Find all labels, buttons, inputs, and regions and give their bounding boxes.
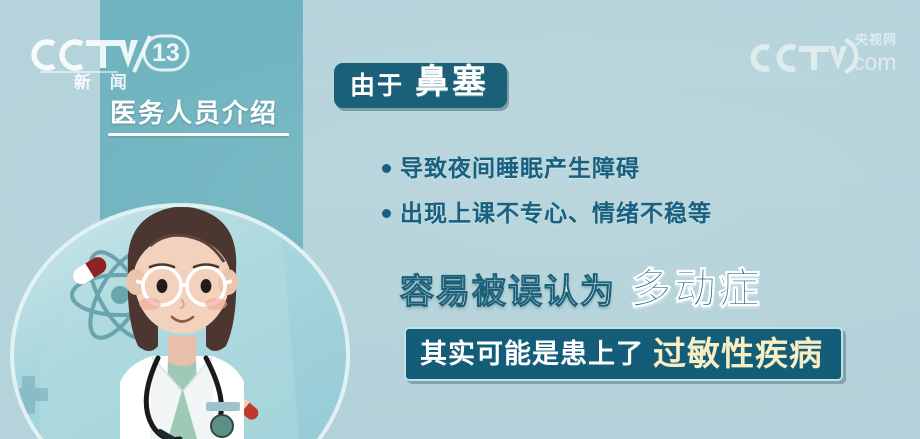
svg-text:新 闻: 新 闻: [74, 72, 134, 90]
glass-bubble: [10, 205, 348, 439]
emphasis-term: 多动症: [630, 268, 762, 310]
source-label-underline: [108, 133, 289, 136]
svg-text:央视网: 央视网: [855, 32, 897, 47]
list-item: 出现上课不专心、情绪不稳等: [382, 201, 802, 226]
stethoscope-chestpiece: [211, 415, 233, 437]
symptom-list: 导致夜间睡眠产生障碍 出现上课不专心、情绪不稳等: [382, 156, 802, 247]
svg-text:com: com: [853, 49, 896, 75]
source-label: 医务人员介绍: [110, 99, 278, 132]
headline-badge: 由于 鼻塞: [334, 63, 507, 108]
svg-text:13: 13: [152, 39, 180, 67]
conclusion-term: 过敏性疾病: [653, 337, 823, 370]
cctv-com-watermark: com 央视网: [745, 26, 911, 78]
list-item-label: 出现上课不专心、情绪不稳等: [400, 201, 712, 226]
conclusion-bar: 其实可能是患上了 过敏性疾病: [404, 327, 843, 381]
news-broadcast-frame: 13 新 闻 com 央视网 医务人员介绍 由于 鼻塞: [0, 0, 920, 439]
doctor-illustration: [0, 150, 360, 439]
doctor-figure: [120, 206, 244, 439]
bullet-dot-icon: [382, 209, 391, 218]
headline-keyword: 鼻塞: [415, 65, 489, 99]
cctv13-logo: 13 新 闻: [22, 28, 192, 90]
bullet-dot-icon: [382, 164, 391, 173]
conclusion-lead: 其实可能是患上了: [420, 341, 644, 368]
emphasis-line: 容易被误认为 多动症: [400, 268, 762, 310]
list-item-label: 导致夜间睡眠产生障碍: [400, 156, 640, 181]
emphasis-lead: 容易被误认为: [400, 275, 616, 309]
headline-prefix: 由于: [350, 74, 404, 99]
list-item: 导致夜间睡眠产生障碍: [382, 156, 802, 181]
